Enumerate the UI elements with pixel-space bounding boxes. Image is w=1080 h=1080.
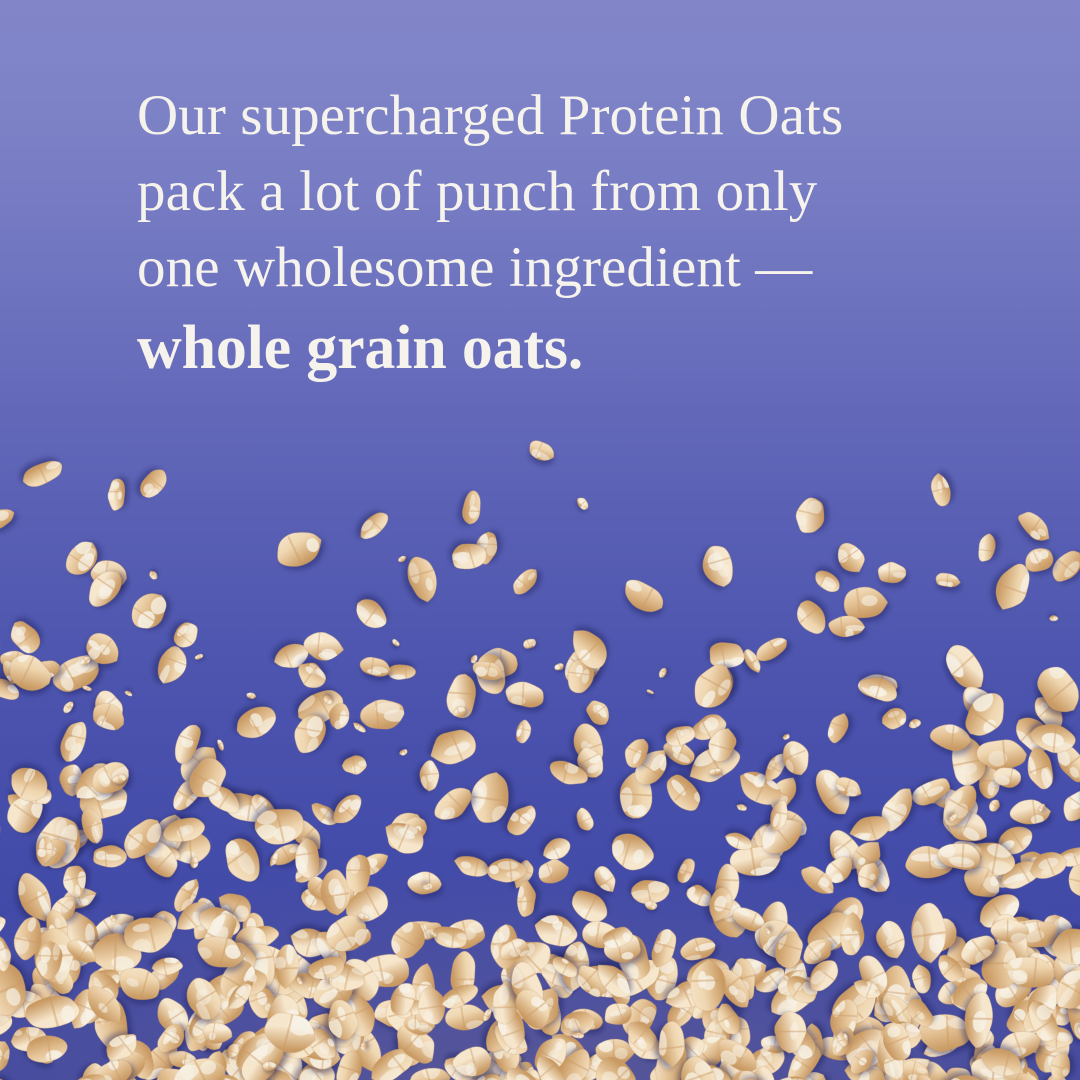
- oat-fragment: [398, 747, 409, 757]
- oat-flake: [22, 1033, 71, 1066]
- oat-fragment: [735, 802, 749, 813]
- oat-fragment: [657, 665, 670, 679]
- oat-fragment: [573, 494, 591, 513]
- oat-fragment: [359, 1041, 367, 1051]
- oat-fragment: [60, 699, 76, 716]
- oat-fragment: [189, 856, 199, 869]
- oat-flake: [423, 720, 486, 774]
- oat-flake: [227, 696, 284, 747]
- oat-flake: [0, 502, 19, 536]
- oat-flake: [514, 879, 538, 921]
- oat-flake: [267, 523, 329, 576]
- oat-flake: [341, 851, 375, 895]
- oat-fragment: [327, 977, 332, 985]
- marketing-image-canvas: Our supercharged Protein Oats pack a lot…: [0, 0, 1080, 1080]
- oat-flake: [459, 488, 485, 528]
- oat-flake: [90, 843, 131, 870]
- oat-flake: [0, 1070, 21, 1080]
- oat-flake: [697, 539, 741, 591]
- oat-flake: [837, 911, 867, 960]
- oat-flake: [928, 472, 955, 511]
- oat-fragment: [391, 638, 402, 649]
- oat-flake: [523, 435, 560, 467]
- oat-fragment: [245, 691, 257, 700]
- oat-flake: [16, 453, 69, 494]
- oat-fragment: [646, 688, 655, 695]
- oat-fragment: [124, 689, 134, 698]
- oat-flake: [846, 809, 897, 848]
- headline-line-1: Our supercharged Protein Oats: [137, 88, 1017, 144]
- oat-flake: [447, 1040, 498, 1080]
- oat-fragment: [1049, 614, 1059, 621]
- oat-flake: [830, 535, 872, 580]
- oat-fragment: [193, 652, 204, 661]
- oat-flake: [820, 709, 854, 749]
- oat-fragment: [146, 568, 159, 582]
- oat-flake: [874, 560, 910, 588]
- oat-flake: [685, 958, 729, 1017]
- oat-fragment: [261, 1060, 277, 1071]
- headline-line-2: pack a lot of punch from only: [137, 164, 1017, 220]
- headline-line-4-emphasis: whole grain oats.: [137, 318, 1017, 379]
- oat-flake: [106, 475, 128, 514]
- oat-flake: [402, 551, 443, 607]
- oat-flake: [353, 506, 395, 547]
- oat-flake: [288, 708, 331, 760]
- headline-block: Our supercharged Protein Oats pack a lot…: [137, 88, 1017, 378]
- oat-flake: [974, 532, 999, 566]
- oat-flake: [512, 717, 535, 747]
- oat-flake: [346, 591, 395, 638]
- oat-flake: [506, 563, 543, 601]
- oat-flake: [132, 462, 176, 507]
- oat-flake: [117, 910, 178, 958]
- oat-flake: [340, 753, 370, 777]
- oat-flake: [771, 1008, 810, 1057]
- oat-flake: [932, 570, 962, 591]
- oat-flake: [615, 570, 673, 622]
- oat-flake: [934, 837, 988, 874]
- oat-flake: [300, 627, 347, 664]
- oat-flake: [1011, 504, 1058, 548]
- oat-flake: [356, 653, 395, 681]
- oat-flake: [0, 705, 8, 758]
- oat-flake: [907, 899, 951, 965]
- oat-flake: [122, 583, 177, 640]
- oat-fragment: [520, 636, 538, 651]
- oat-flake: [908, 961, 935, 997]
- oat-flake: [1007, 796, 1052, 829]
- oat-flake: [788, 491, 831, 541]
- oat-flake: [878, 703, 912, 733]
- headline-line-3: one wholesome ingredient —: [137, 240, 1017, 296]
- oat-flake: [826, 614, 867, 638]
- oat-flake: [572, 804, 599, 836]
- oat-flake: [446, 537, 492, 577]
